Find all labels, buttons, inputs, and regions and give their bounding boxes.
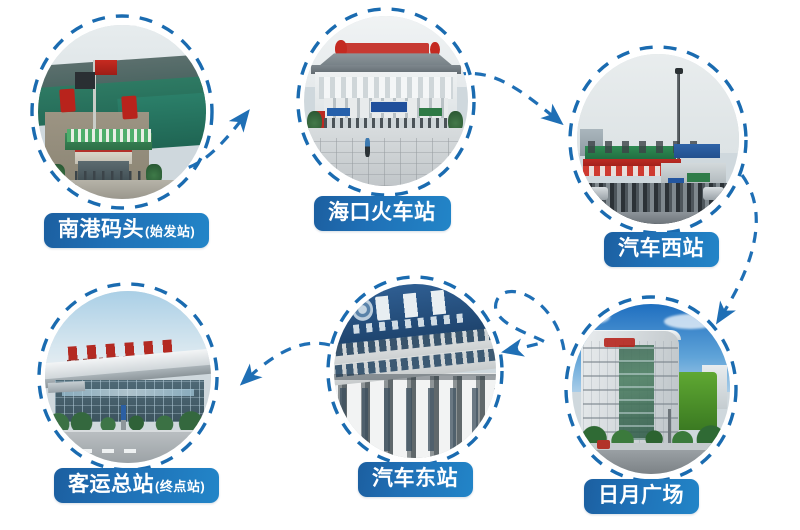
stop-east-bus-station[interactable]: 汽车东站 <box>318 272 518 502</box>
stop-label-main: 汽车西站 <box>618 237 704 261</box>
stop-label-riyue-plaza[interactable]: 日月广场 <box>584 479 699 514</box>
stop-photo-haikou-railway-station <box>304 16 468 186</box>
stop-photo-west-bus-station <box>577 54 739 224</box>
stop-label-sub: (终点站) <box>155 480 205 495</box>
stop-label-passenger-terminal[interactable]: 客运总站 (终点站) <box>54 468 219 503</box>
stop-haikou-railway-station[interactable]: 海口火车站 <box>288 4 488 244</box>
stop-label-east-bus-station[interactable]: 汽车东站 <box>358 462 473 497</box>
stop-label-main: 客运总站 <box>68 473 154 497</box>
stop-passenger-terminal[interactable]: 客运总站 (终点站) <box>28 278 238 518</box>
stop-label-main: 海口火车站 <box>328 201 436 225</box>
stop-west-bus-station[interactable]: 汽车西站 <box>560 42 760 282</box>
stop-photo-east-bus-station <box>334 284 496 458</box>
stop-riyue-plaza[interactable]: 日月广场 <box>556 292 756 522</box>
stop-label-nangang-pier[interactable]: 南港码头 (始发站) <box>44 213 209 248</box>
stop-photo-riyue-plaza <box>572 304 730 474</box>
stop-photo-nangang-pier <box>38 25 206 199</box>
stop-label-main: 南港码头 <box>58 218 144 242</box>
stop-label-main: 汽车东站 <box>372 467 458 491</box>
stop-label-sub: (始发站) <box>145 225 195 240</box>
stop-label-west-bus-station[interactable]: 汽车西站 <box>604 232 719 267</box>
stop-label-haikou-railway-station[interactable]: 海口火车站 <box>314 196 451 231</box>
stop-label-main: 日月广场 <box>598 484 684 508</box>
stop-nangang-pier[interactable]: 南港码头 (始发站) <box>22 12 222 262</box>
route-diagram: 南港码头 (始发站) 海口火车站 <box>0 0 800 530</box>
stop-photo-passenger-terminal <box>45 291 211 463</box>
